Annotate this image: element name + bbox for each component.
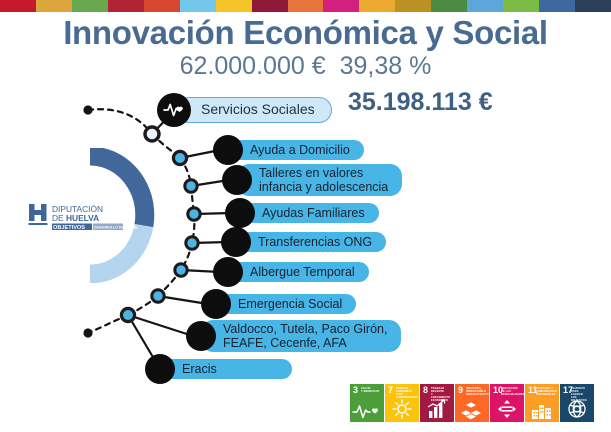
spine-dashed-4 xyxy=(192,214,194,243)
terminal-dot-top xyxy=(83,105,92,114)
sdg-number: 3 xyxy=(353,386,358,395)
highlight-amount: 35.198.113 € xyxy=(348,88,493,117)
sdg-caption: INDUSTRIA, INNOVACIÓN E INFRAESTRUCTURA xyxy=(466,387,487,397)
branch-node-dot[interactable] xyxy=(222,165,252,195)
total-amount: 62.000.000 € xyxy=(180,52,326,80)
sdg-color-swatch-2 xyxy=(36,0,72,12)
spine-dashed-3 xyxy=(191,186,194,214)
branch-node-dot[interactable] xyxy=(221,227,251,257)
joint-7 xyxy=(121,308,134,321)
spur-7 xyxy=(128,315,193,336)
sdg-color-swatch-17 xyxy=(575,0,611,12)
sdg-icon-strip: 3SALUD Y BIENESTAR7ENERGÍA ASEQUIBLE Y N… xyxy=(350,384,594,422)
growth-chart-icon xyxy=(420,398,454,420)
heartbeat-icon xyxy=(162,98,186,122)
joint-3 xyxy=(188,208,200,220)
branch-node-dot[interactable] xyxy=(201,289,231,319)
page-title: Innovación Económica y Social xyxy=(0,14,611,52)
budget-summary-line: 62.000.000 €39,38 % xyxy=(0,52,611,81)
joint-0 xyxy=(145,127,159,141)
logo-h-mark xyxy=(29,204,48,225)
branch-label-3[interactable]: Transferencias ONG xyxy=(236,232,386,252)
branch-node-dot[interactable] xyxy=(145,354,175,384)
sdg-color-swatch-11 xyxy=(359,0,395,12)
logo-line-2: DE HUELVA xyxy=(52,213,99,223)
industry-cubes-icon xyxy=(455,398,489,420)
sdg-tile-3: 3SALUD Y BIENESTAR xyxy=(350,384,384,422)
joint-6 xyxy=(152,290,164,302)
branch-node-dot[interactable] xyxy=(213,135,243,165)
sdg-number: 7 xyxy=(388,386,393,395)
sdg-tile-17: 17ALIANZAS PARA LOGRAR LOS OBJETIVOS xyxy=(560,384,594,422)
sdg-tile-9: 9INDUSTRIA, INNOVACIÓN E INFRAESTRUCTURA xyxy=(455,384,489,422)
branch-node-dot[interactable] xyxy=(213,257,243,287)
sdg-tile-11: 11CIUDADES Y COMUNIDADES SOSTENIBLES xyxy=(525,384,559,422)
city-buildings-icon xyxy=(525,398,559,420)
sdg-color-bar xyxy=(0,0,611,12)
sdg-color-swatch-12 xyxy=(395,0,431,12)
sdg-color-swatch-13 xyxy=(431,0,467,12)
root-node-label[interactable]: Servicios Sociales xyxy=(176,97,332,123)
sdg-caption: SALUD Y BIENESTAR xyxy=(361,387,382,393)
sdg-tile-7: 7ENERGÍA ASEQUIBLE Y NO CONTAMINANTE xyxy=(385,384,419,422)
sdg-tile-10: 10REDUCCIÓN DE LAS DESIGUALDADES xyxy=(490,384,524,422)
sdg-color-swatch-8 xyxy=(252,0,288,12)
branch-label-6[interactable]: Valdocco, Tutela, Paco Girón, FEAFE, Cec… xyxy=(201,320,401,352)
sdg-number: 9 xyxy=(458,386,463,395)
root-node-dot[interactable] xyxy=(157,93,191,127)
sdg-color-swatch-16 xyxy=(539,0,575,12)
sdg-color-swatch-6 xyxy=(180,0,216,12)
sdg-color-swatch-7 xyxy=(216,0,252,12)
sdg-color-swatch-9 xyxy=(288,0,324,12)
sun-energy-icon xyxy=(385,398,419,420)
spine-dashed-7 xyxy=(128,296,158,315)
branch-label-2[interactable]: Ayudas Familiares xyxy=(240,203,379,223)
terminal-dot-bottom xyxy=(83,328,92,337)
sdg-color-swatch-10 xyxy=(323,0,359,12)
sdg-caption: REDUCCIÓN DE LAS DESIGUALDADES xyxy=(501,387,522,397)
spine-dashed-lower xyxy=(88,315,128,333)
diputacion-huelva-logo: DIPUTACIÓN DE HUELVA OBJETIVOS DESARROLL… xyxy=(28,202,138,236)
branch-label-5[interactable]: Emergencia Social xyxy=(216,294,356,314)
equals-arrows-icon xyxy=(490,398,524,420)
branch-label-4[interactable]: Albergue Temporal xyxy=(228,262,369,282)
branch-node-dot[interactable] xyxy=(225,198,255,228)
branch-label-0[interactable]: Ayuda a Domicilio xyxy=(228,140,364,160)
spine-dashed-upper xyxy=(88,109,152,134)
sdg-color-swatch-1 xyxy=(0,0,36,12)
sdg-color-swatch-14 xyxy=(467,0,503,12)
health-pulse-heart-icon xyxy=(350,398,384,420)
percentage-value: 39,38 % xyxy=(340,52,432,80)
branch-node-dot[interactable] xyxy=(186,321,216,351)
sdg-color-swatch-5 xyxy=(144,0,180,12)
branch-label-1[interactable]: Talleres en valores infancia y adolescen… xyxy=(237,164,402,196)
sdg-color-swatch-15 xyxy=(503,0,539,12)
sdg-number: 8 xyxy=(423,386,428,395)
sdg-color-swatch-3 xyxy=(72,0,108,12)
logo-line-3-suffix: DESARROLLO SOSTENIBLE xyxy=(94,225,138,229)
sdg-color-swatch-4 xyxy=(108,0,144,12)
logo-line-3: OBJETIVOS xyxy=(53,225,85,231)
partnership-circles-icon xyxy=(560,398,594,420)
sdg-tile-8: 8TRABAJO DECENTE Y CRECIMIENTO ECONÓMICO xyxy=(420,384,454,422)
sdg-caption: CIUDADES Y COMUNIDADES SOSTENIBLES xyxy=(536,387,557,397)
branch-label-7[interactable]: Eracis xyxy=(160,359,292,379)
